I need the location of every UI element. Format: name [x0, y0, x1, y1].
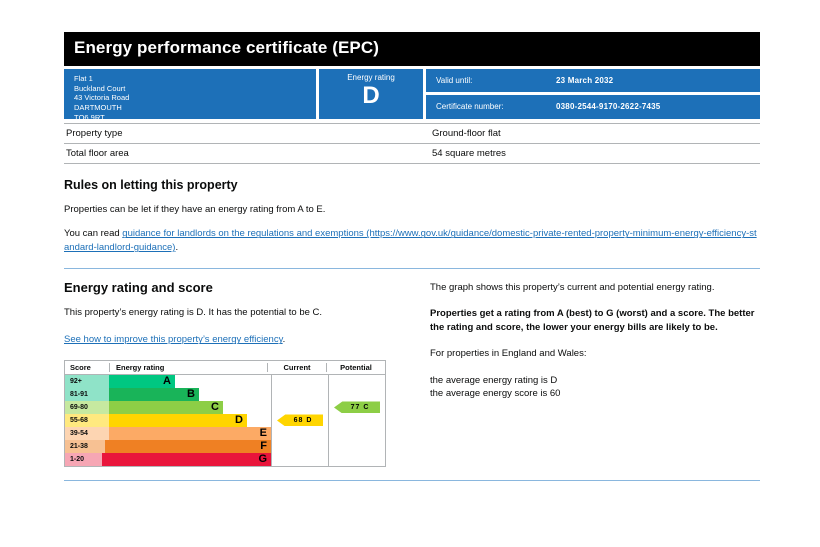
epc-graph: Score Energy rating Current Potential 92… — [64, 360, 386, 467]
address-line-3: 43 Victoria Road — [74, 93, 316, 103]
graph-explainer-2: Properties get a rating from A (best) to… — [430, 307, 760, 334]
column-header-score: Score — [65, 363, 109, 372]
current-rating-arrow: 68 D — [277, 414, 323, 426]
average-rating-line: the average energy rating is D — [430, 374, 760, 387]
epc-band-bar: A — [109, 375, 175, 388]
column-header-energy-rating: Energy rating — [109, 363, 267, 372]
summary-band: Flat 1 Buckland Court 43 Victoria Road D… — [64, 69, 760, 119]
epc-band-score: 1-20 — [65, 453, 102, 466]
property-type-label: Property type — [66, 128, 432, 139]
section-divider — [64, 268, 760, 269]
address-postcode: TQ6 9RT — [74, 113, 316, 123]
current-rating-arrow-row: 68 D — [272, 414, 328, 427]
column-header-potential: Potential — [326, 363, 385, 372]
energy-right-column: The graph shows this property’s current … — [430, 280, 760, 467]
letting-heading: Rules on letting this property — [64, 178, 760, 192]
property-address: Flat 1 Buckland Court 43 Victoria Road D… — [64, 69, 316, 119]
landlord-guidance-link[interactable]: guidance for landlords on the regulation… — [64, 228, 757, 253]
graph-explainer-1: The graph shows this property’s current … — [430, 281, 760, 294]
certificate-number-value: 0380-2544-9170-2622-7435 — [556, 102, 660, 111]
epc-band-bar: C — [109, 401, 223, 414]
valid-until-row: Valid until: 23 March 2032 — [426, 69, 760, 93]
bottom-divider — [64, 480, 760, 481]
epc-band-score: 55-68 — [65, 414, 109, 427]
improve-efficiency-paragraph: See how to improve this property’s energ… — [64, 333, 430, 346]
letting-read-prefix: You can read — [64, 228, 122, 239]
letting-paragraph: Properties can be let if they have an en… — [64, 203, 760, 217]
energy-left-column: Energy rating and score This property’s … — [64, 280, 430, 467]
epc-current-column: 68 D — [271, 375, 328, 466]
graph-explainer-4: the average energy rating is D the avera… — [430, 374, 760, 401]
epc-band-score: 92+ — [65, 375, 109, 388]
table-row: Total floor area 54 square metres — [64, 144, 760, 164]
valid-until-value: 23 March 2032 — [556, 76, 613, 85]
letting-guidance-paragraph: You can read guidance for landlords on t… — [64, 227, 760, 255]
epc-band-bar: F — [105, 440, 271, 453]
average-score-line: the average energy score is 60 — [430, 387, 760, 400]
epc-band-score: 69-80 — [65, 401, 109, 414]
epc-band-score: 39-54 — [65, 427, 109, 440]
energy-summary-text: This property’s energy rating is D. It h… — [64, 306, 430, 319]
address-line-1: Flat 1 — [74, 74, 316, 84]
epc-band-list: 92+A81-91B69-80C55-68D39-54E21-38F1-20G — [65, 375, 271, 466]
page-title: Energy performance certificate (EPC) — [64, 32, 760, 66]
epc-band-row: 81-91B — [65, 388, 271, 401]
improve-efficiency-link[interactable]: See how to improve this property’s energ… — [64, 334, 283, 345]
column-header-current: Current — [267, 363, 326, 372]
valid-until-label: Valid until: — [436, 76, 556, 85]
address-line-2: Buckland Court — [74, 84, 316, 94]
epc-band-row: 55-68D — [65, 414, 271, 427]
property-details-table: Property type Ground-floor flat Total fl… — [64, 123, 760, 164]
epc-band-score: 21-38 — [65, 440, 105, 453]
epc-band-row: 39-54E — [65, 427, 271, 440]
energy-rating-label: Energy rating — [319, 74, 423, 83]
epc-band-score: 81-91 — [65, 388, 109, 401]
page-content: Energy performance certificate (EPC) Fla… — [64, 32, 760, 481]
epc-graph-header: Score Energy rating Current Potential — [65, 361, 385, 375]
graph-explainer-3: For properties in England and Wales: — [430, 347, 760, 360]
address-line-4: DARTMOUTH — [74, 103, 316, 113]
energy-rating-section: Energy rating and score This property’s … — [64, 280, 760, 467]
potential-rating-arrow-row: 77 C — [329, 401, 385, 414]
floor-area-value: 54 square metres — [432, 148, 760, 159]
letting-read-suffix: . — [175, 242, 178, 253]
energy-rating-badge: Energy rating D — [319, 69, 423, 119]
epc-potential-column: 77 C — [328, 375, 385, 466]
property-type-value: Ground-floor flat — [432, 128, 760, 139]
epc-band-row: 92+A — [65, 375, 271, 388]
epc-band-bar: E — [109, 427, 271, 440]
epc-band-row: 69-80C — [65, 401, 271, 414]
certificate-number-label: Certificate number: — [436, 102, 556, 111]
certificate-meta: Valid until: 23 March 2032 Certificate n… — [426, 69, 760, 119]
epc-band-bar: G — [102, 453, 271, 466]
epc-band-row: 21-38F — [65, 440, 271, 453]
epc-band-bar: B — [109, 388, 199, 401]
energy-rating-value: D — [319, 83, 423, 108]
epc-band-bar: D — [109, 414, 247, 427]
energy-section-heading: Energy rating and score — [64, 280, 430, 295]
potential-rating-arrow: 77 C — [334, 401, 380, 413]
epc-page: Energy performance certificate (EPC) Fla… — [0, 0, 820, 547]
epc-band-row: 1-20G — [65, 453, 271, 466]
improve-link-suffix: . — [283, 334, 286, 345]
certificate-number-row: Certificate number: 0380-2544-9170-2622-… — [426, 95, 760, 119]
epc-graph-body: 92+A81-91B69-80C55-68D39-54E21-38F1-20G … — [65, 375, 385, 466]
table-row: Property type Ground-floor flat — [64, 124, 760, 144]
floor-area-label: Total floor area — [66, 148, 432, 159]
